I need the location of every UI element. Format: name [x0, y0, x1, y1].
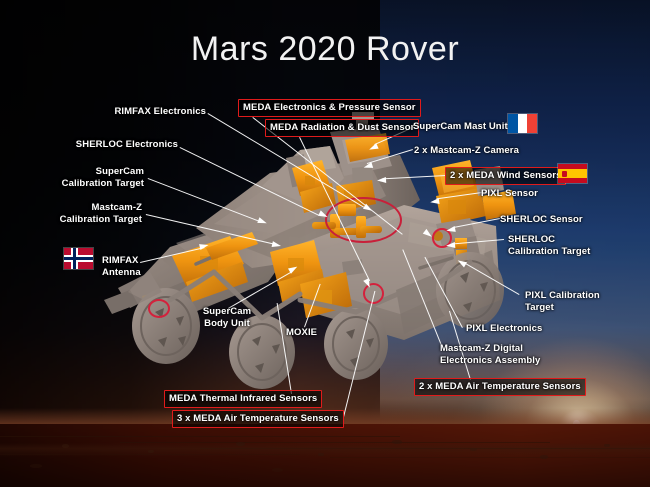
label-pixl-sensor: PIXL Sensor	[481, 188, 538, 200]
label-sherloc-calibration-target: SHERLOC Calibration Target	[508, 234, 590, 257]
label-pixl-electronics: PIXL Electronics	[466, 323, 542, 335]
label-rimfax-antenna: RIMFAX Antenna	[102, 255, 172, 278]
label-sherloc-electronics: SHERLOC Electronics	[64, 139, 178, 151]
label-moxie: MOXIE	[286, 327, 330, 339]
label-meda-air-temperature-sensors-3x: 3 x MEDA Air Temperature Sensors	[172, 410, 344, 428]
meda-thermal-sensor-highlight	[148, 299, 170, 318]
norway-flag-icon	[64, 248, 93, 269]
label-meda-wind-sensors: 2 x MEDA Wind Sensors	[445, 167, 566, 185]
label-mastcam-z-camera: 2 x Mastcam-Z Camera	[414, 145, 519, 157]
label-meda-air-temperature-sensors-2x: 2 x MEDA Air Temperature Sensors	[414, 378, 586, 396]
label-mastcam-z-digital-electronics-assembly: Mastcam-Z Digital Electronics Assembly	[440, 343, 540, 366]
label-meda-electronics-pressure-sensor: MEDA Electronics & Pressure Sensor	[238, 99, 421, 117]
spain-flag-icon	[558, 164, 587, 183]
mars-2020-rover-infographic: Mars 2020 Rover	[0, 0, 650, 487]
label-meda-thermal-infrared-sensors: MEDA Thermal Infrared Sensors	[164, 390, 322, 408]
label-supercam-calibration-target: SuperCam Calibration Target	[40, 166, 144, 189]
label-meda-radiation-dust-sensor: MEDA Radiation & Dust Sensor	[265, 119, 419, 137]
label-rimfax-electronics: RIMFAX Electronics	[100, 106, 206, 118]
label-sherloc-sensor: SHERLOC Sensor	[500, 214, 583, 226]
france-flag-icon	[508, 114, 537, 133]
label-pixl-calibration-target: PIXL Calibration Target	[525, 290, 600, 313]
label-mastcam-z-calibration-target: Mastcam-Z Calibration Target	[38, 202, 142, 225]
label-supercam-body-unit: SuperCam Body Unit	[186, 306, 268, 329]
label-supercam-mast-unit: SuperCam Mast Unit	[413, 121, 508, 133]
